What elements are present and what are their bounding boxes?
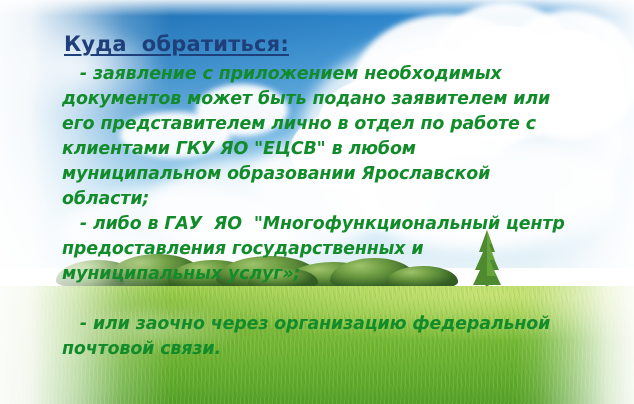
slide-title: Куда обратиться: — [64, 32, 578, 56]
paragraph-personal-submission: - заявление с приложением необходимых до… — [62, 62, 578, 212]
slide-body: - заявление с приложением необходимых до… — [62, 62, 578, 362]
paragraph-postal-service: - или заочно через организацию федеральн… — [62, 312, 578, 362]
paragraph-mfc: - либо в ГАУ ЯО "Многофункциональный цен… — [62, 212, 578, 287]
slide-content: Куда обратиться: - заявление с приложени… — [62, 32, 578, 362]
slide-canvas: Куда обратиться: - заявление с приложени… — [0, 0, 634, 404]
